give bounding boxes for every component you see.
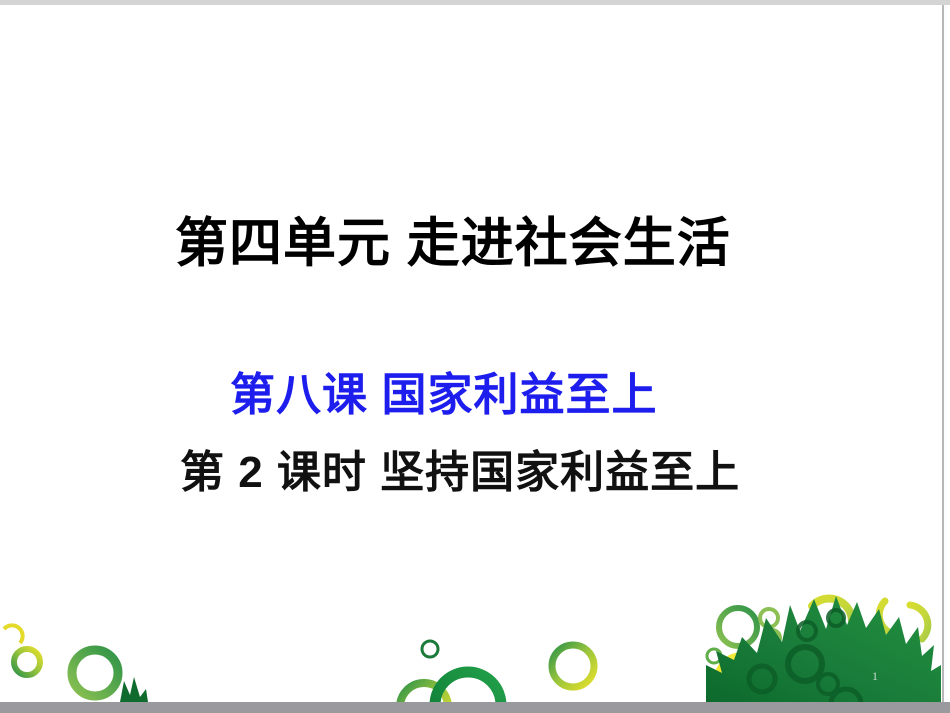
ring-dark-on-leaf-f [749,666,775,692]
period-title: 第 2 课时 坚持国家利益至上 [180,449,740,497]
ring-small-green-lower [764,630,780,646]
ring-tiny-deep-green-center [422,641,438,657]
ring-dark-on-leaf-c [818,674,838,694]
bubble-group-left [4,625,118,696]
unit-title: 第四单元 走进社会生活 [175,215,731,273]
ring-tiny-green-far-left-leaf [707,649,721,663]
maple-leaf-shape [706,596,941,702]
window-chrome-right-line [942,5,944,702]
ring-yellow-green-center-low [400,683,448,702]
ring-yellow-green-mid-right [552,645,594,687]
page-number: 1 [872,669,878,684]
ring-small-green-yellow-left [14,649,40,675]
slide-root: 第四单元 走进社会生活 第八课 国家利益至上 第 2 课时 坚持国家利益至上 [0,0,950,713]
maple-leaf-decoration-icon [0,5,941,702]
lesson-title: 第八课 国家利益至上 [230,370,658,420]
ring-yellow-arc-leaf-top [812,598,852,621]
ring-dark-on-leaf-a [788,647,822,681]
slide-canvas: 第四单元 走进社会生活 第八课 国家利益至上 第 2 课时 坚持国家利益至上 [0,5,941,702]
decoration-layer [0,5,941,702]
ring-dark-on-leaf-b [798,622,816,640]
ring-dark-on-leaf-d [831,689,861,702]
ring-deep-green-center [435,672,501,702]
ring-yellow-arc-leaf-far-right [910,605,928,639]
ring-large-yellow-green-left [72,650,118,696]
bubble-group-on-leaf [749,610,861,702]
yellow-gradient-ball [714,652,770,702]
ring-small-green-upper [760,609,778,627]
ring-yellow-arc-leaf-right [879,601,899,635]
window-chrome-right-pad [944,5,950,702]
bubble-group-leaf-left [707,608,780,663]
bubble-group-leaf-arcs [812,598,928,639]
small-leaf-tuft [120,677,148,702]
ring-dark-on-leaf-e [828,610,844,626]
bubble-group-center [400,641,594,702]
ring-green-leaf-top-left [719,608,757,646]
window-chrome-bottom-bar[interactable] [0,702,950,713]
ring-crescent-yellow-far-left [4,625,23,643]
